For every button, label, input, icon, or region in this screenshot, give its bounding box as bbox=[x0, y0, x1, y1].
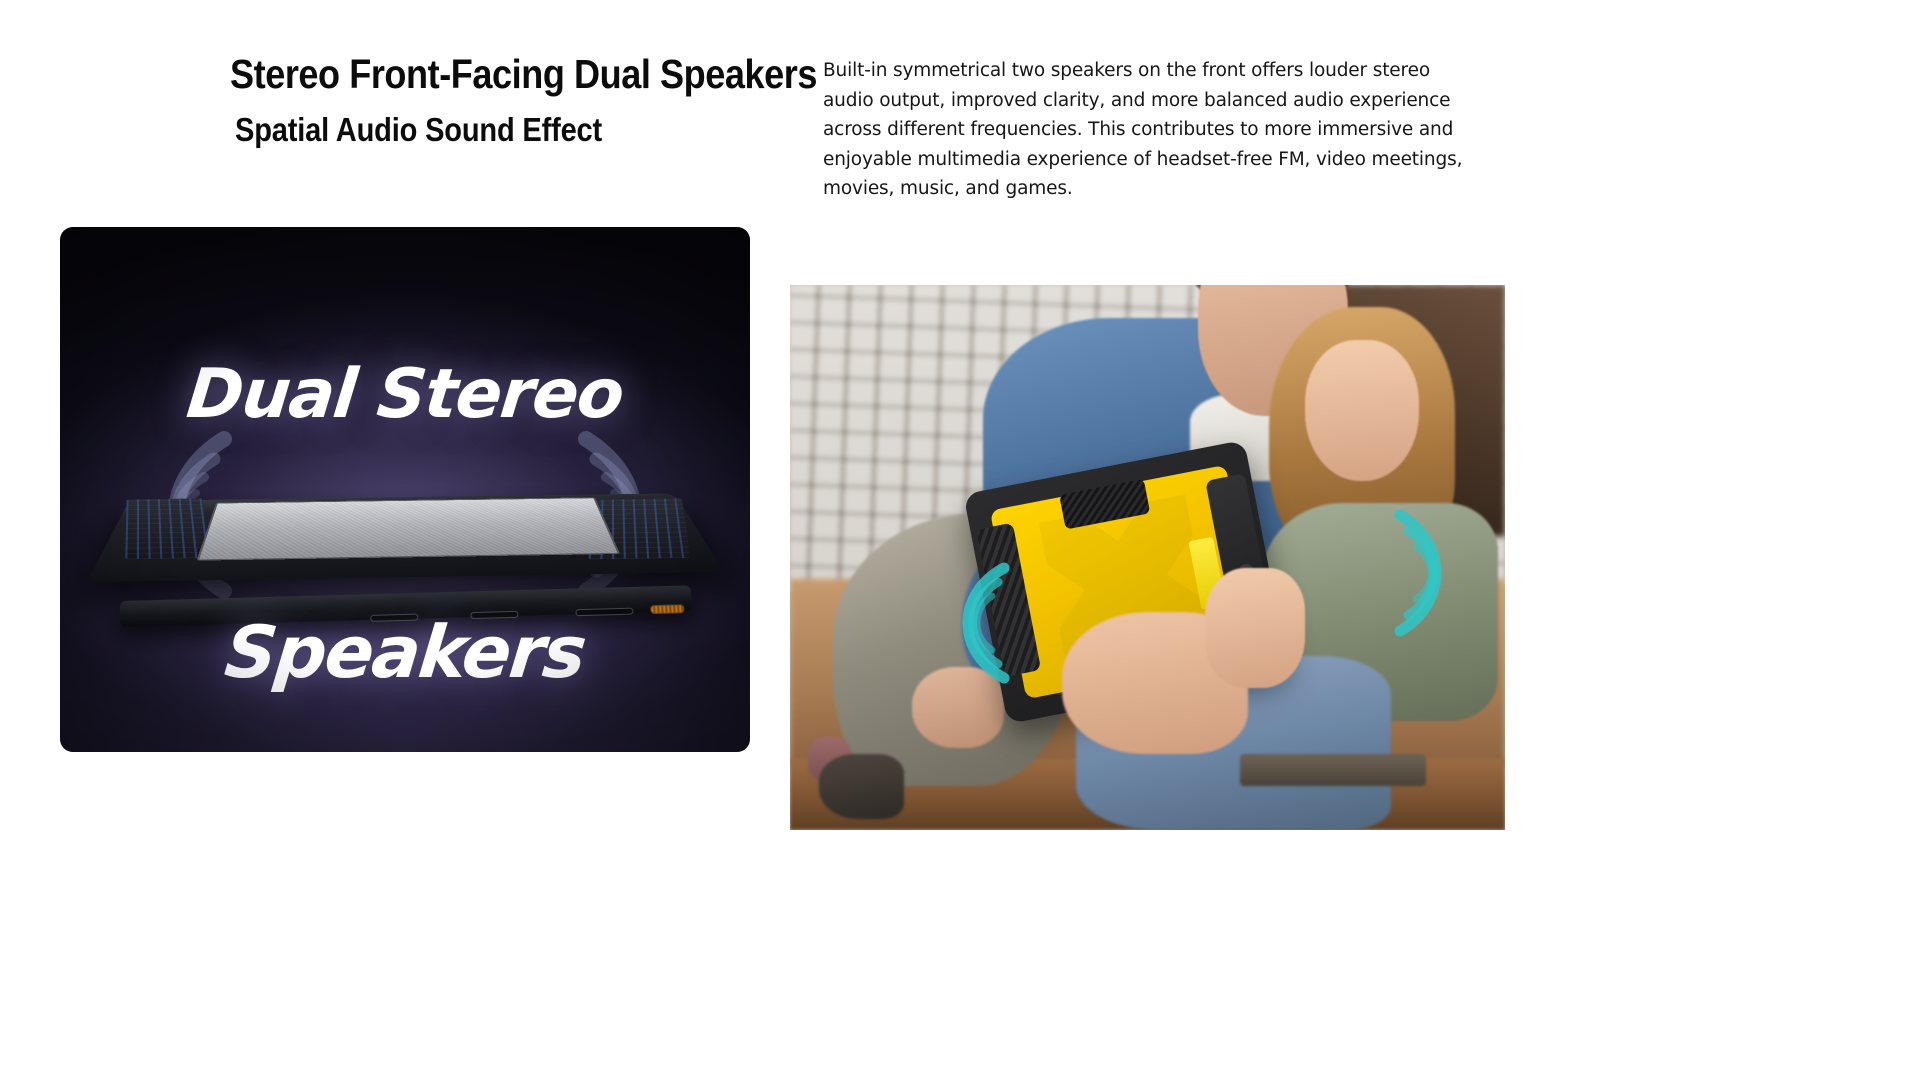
tablet-internals-left bbox=[125, 498, 210, 559]
page-subtitle: Spatial Audio Sound Effect bbox=[235, 112, 864, 148]
tablet-screen-mesh bbox=[197, 497, 620, 560]
photo-man-shoe bbox=[819, 754, 905, 819]
page-title: Stereo Front-Facing Dual Speakers bbox=[230, 52, 864, 96]
photo-man-hand bbox=[912, 667, 1005, 749]
marketing-page: Stereo Front-Facing Dual Speakers Spatia… bbox=[0, 0, 1920, 1080]
product-feature-panel: Dual Stereo bbox=[60, 227, 750, 752]
photo-woman-belt bbox=[1240, 754, 1426, 787]
lifestyle-photo bbox=[790, 285, 1505, 830]
exploded-tablet-internals bbox=[112, 459, 700, 609]
panel-headline-bottom: Speakers bbox=[221, 610, 589, 694]
tablet-connector-orange bbox=[650, 604, 685, 614]
description-paragraph: Built-in symmetrical two speakers on the… bbox=[823, 56, 1463, 204]
photo-woman-face bbox=[1305, 340, 1419, 482]
photo-woman-hand bbox=[1205, 568, 1305, 688]
panel-headline-top: Dual Stereo bbox=[183, 355, 627, 434]
